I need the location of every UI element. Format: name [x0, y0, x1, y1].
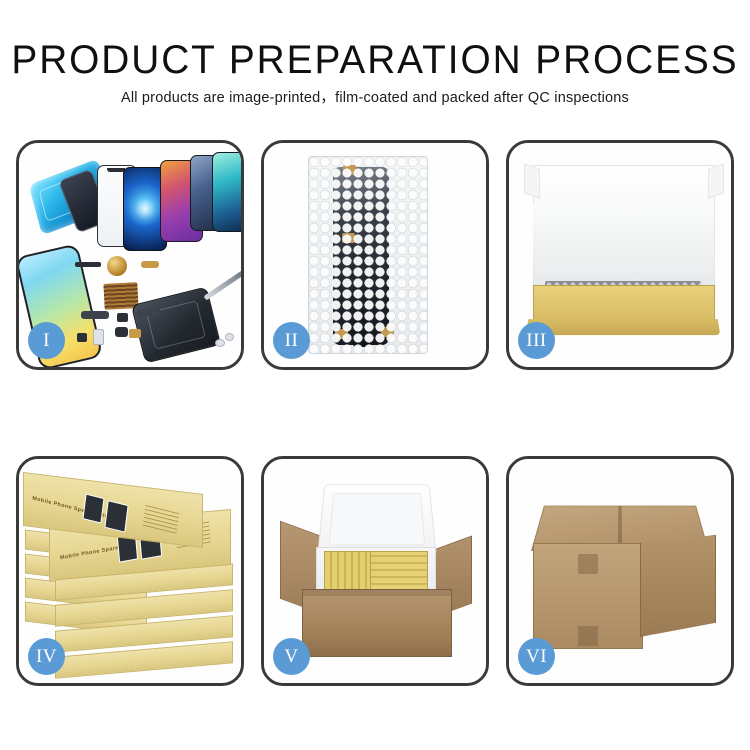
bubble-texture-overlay [309, 157, 427, 353]
carton-tab-upper [578, 554, 598, 574]
bubble-wrap-bag [308, 156, 428, 354]
lid-inner-band [533, 205, 713, 263]
header: PRODUCT PREPARATION PROCESS All products… [0, 38, 750, 108]
screw-icon [215, 339, 225, 347]
small-chip-icon [117, 313, 128, 322]
foam-lid [317, 484, 437, 556]
box-spec-lines-1 [143, 504, 179, 534]
screw-set-icon [77, 333, 87, 342]
step-panel-6[interactable]: VI [506, 456, 734, 686]
step-badge-4: IV [28, 638, 65, 675]
flex-cable-2-icon [137, 309, 161, 316]
carton-body [302, 589, 452, 657]
box-screen-image-1b [104, 500, 128, 532]
step-panel-3[interactable]: III [506, 140, 734, 370]
step-badge-6: VI [518, 638, 555, 675]
page-subtitle: All products are image-printed，film-coat… [0, 89, 750, 108]
carton-side-face [640, 535, 716, 637]
step-panel-2[interactable]: II [261, 140, 489, 370]
earpiece-mesh-icon [75, 262, 101, 267]
packed-yellow-boxes-right [370, 551, 428, 591]
process-step-grid: I II [16, 140, 734, 686]
box-screen-image-1a [82, 494, 104, 524]
phone-display-d-icon [212, 152, 241, 232]
carton-front-face [533, 543, 643, 649]
step-panel-5[interactable]: V [261, 456, 489, 686]
kraft-box-front-lip [526, 319, 721, 335]
step-badge-3: III [518, 322, 555, 359]
step-badge-1: I [28, 322, 65, 359]
vibrator-icon [129, 329, 141, 338]
step-panel-1[interactable]: I [16, 140, 244, 370]
camera-module-icon [115, 327, 128, 337]
speaker-module-icon [107, 256, 127, 276]
screw-2-icon [225, 333, 234, 341]
carton-tab-lower [578, 626, 598, 646]
step-badge-5: V [273, 638, 310, 675]
flex-cable-icon [81, 311, 109, 319]
flex-cable-gold-icon [141, 261, 159, 268]
sim-tray-icon [93, 329, 104, 345]
product-preparation-infographic: PRODUCT PREPARATION PROCESS All products… [0, 0, 750, 750]
step-badge-2: II [273, 322, 310, 359]
page-title: PRODUCT PREPARATION PROCESS [11, 38, 739, 82]
screwdriver-icon [204, 271, 241, 301]
step-panel-4[interactable]: Mobile Phone Spare Parts Mobile Phone Sp… [16, 456, 244, 686]
